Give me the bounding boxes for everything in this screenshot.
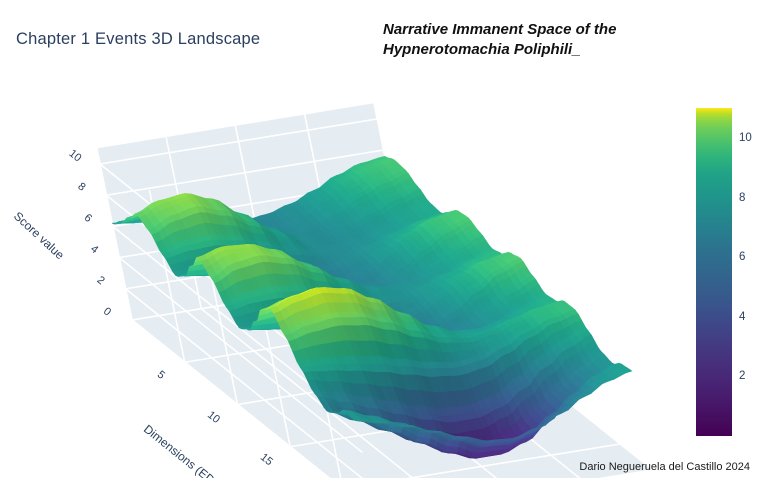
- colorbar-tick-label: 10: [739, 132, 752, 144]
- x-axis-tick: 5: [155, 369, 167, 382]
- z-axis-tick: 10: [67, 147, 84, 164]
- z-axis-tick: 6: [82, 212, 94, 225]
- colorbar-tick-label: 8: [739, 192, 745, 204]
- z-axis-title: Score value: [11, 209, 67, 262]
- surface-3d-scene[interactable]: 0246810Score value5101520Dimensions (ED …: [0, 78, 690, 478]
- z-axis-tick: 0: [101, 305, 113, 318]
- plot-canvas: Chapter 1 Events 3D Landscape Narrative …: [0, 0, 768, 490]
- x-axis-tick: 15: [258, 451, 275, 468]
- x-axis-tick: 10: [205, 409, 222, 426]
- colorbar[interactable]: 108642: [696, 108, 768, 448]
- colorbar-tick-label: 4: [739, 311, 745, 323]
- annotation-title: Narrative Immanent Space of the Hypnerot…: [383, 20, 683, 61]
- x-axis-title: Dimensions (ED t: [141, 422, 223, 478]
- colorbar-tick-label: 2: [739, 370, 745, 382]
- credit-text: Dario Negueruela del Castillo 2024: [579, 461, 750, 473]
- page-title: Chapter 1 Events 3D Landscape: [16, 30, 260, 49]
- z-axis-tick: 4: [88, 243, 100, 256]
- annotation-line-1: Narrative Immanent Space of the: [383, 20, 683, 40]
- z-axis-tick: 2: [95, 274, 107, 287]
- z-axis-tick: 8: [75, 181, 87, 194]
- annotation-line-2: Hypnerotomachia Poliphili_: [383, 40, 683, 60]
- surface-3d-svg[interactable]: 0246810Score value5101520Dimensions (ED …: [0, 78, 690, 478]
- colorbar-gradient: [696, 108, 732, 436]
- colorbar-tick-label: 6: [739, 251, 745, 263]
